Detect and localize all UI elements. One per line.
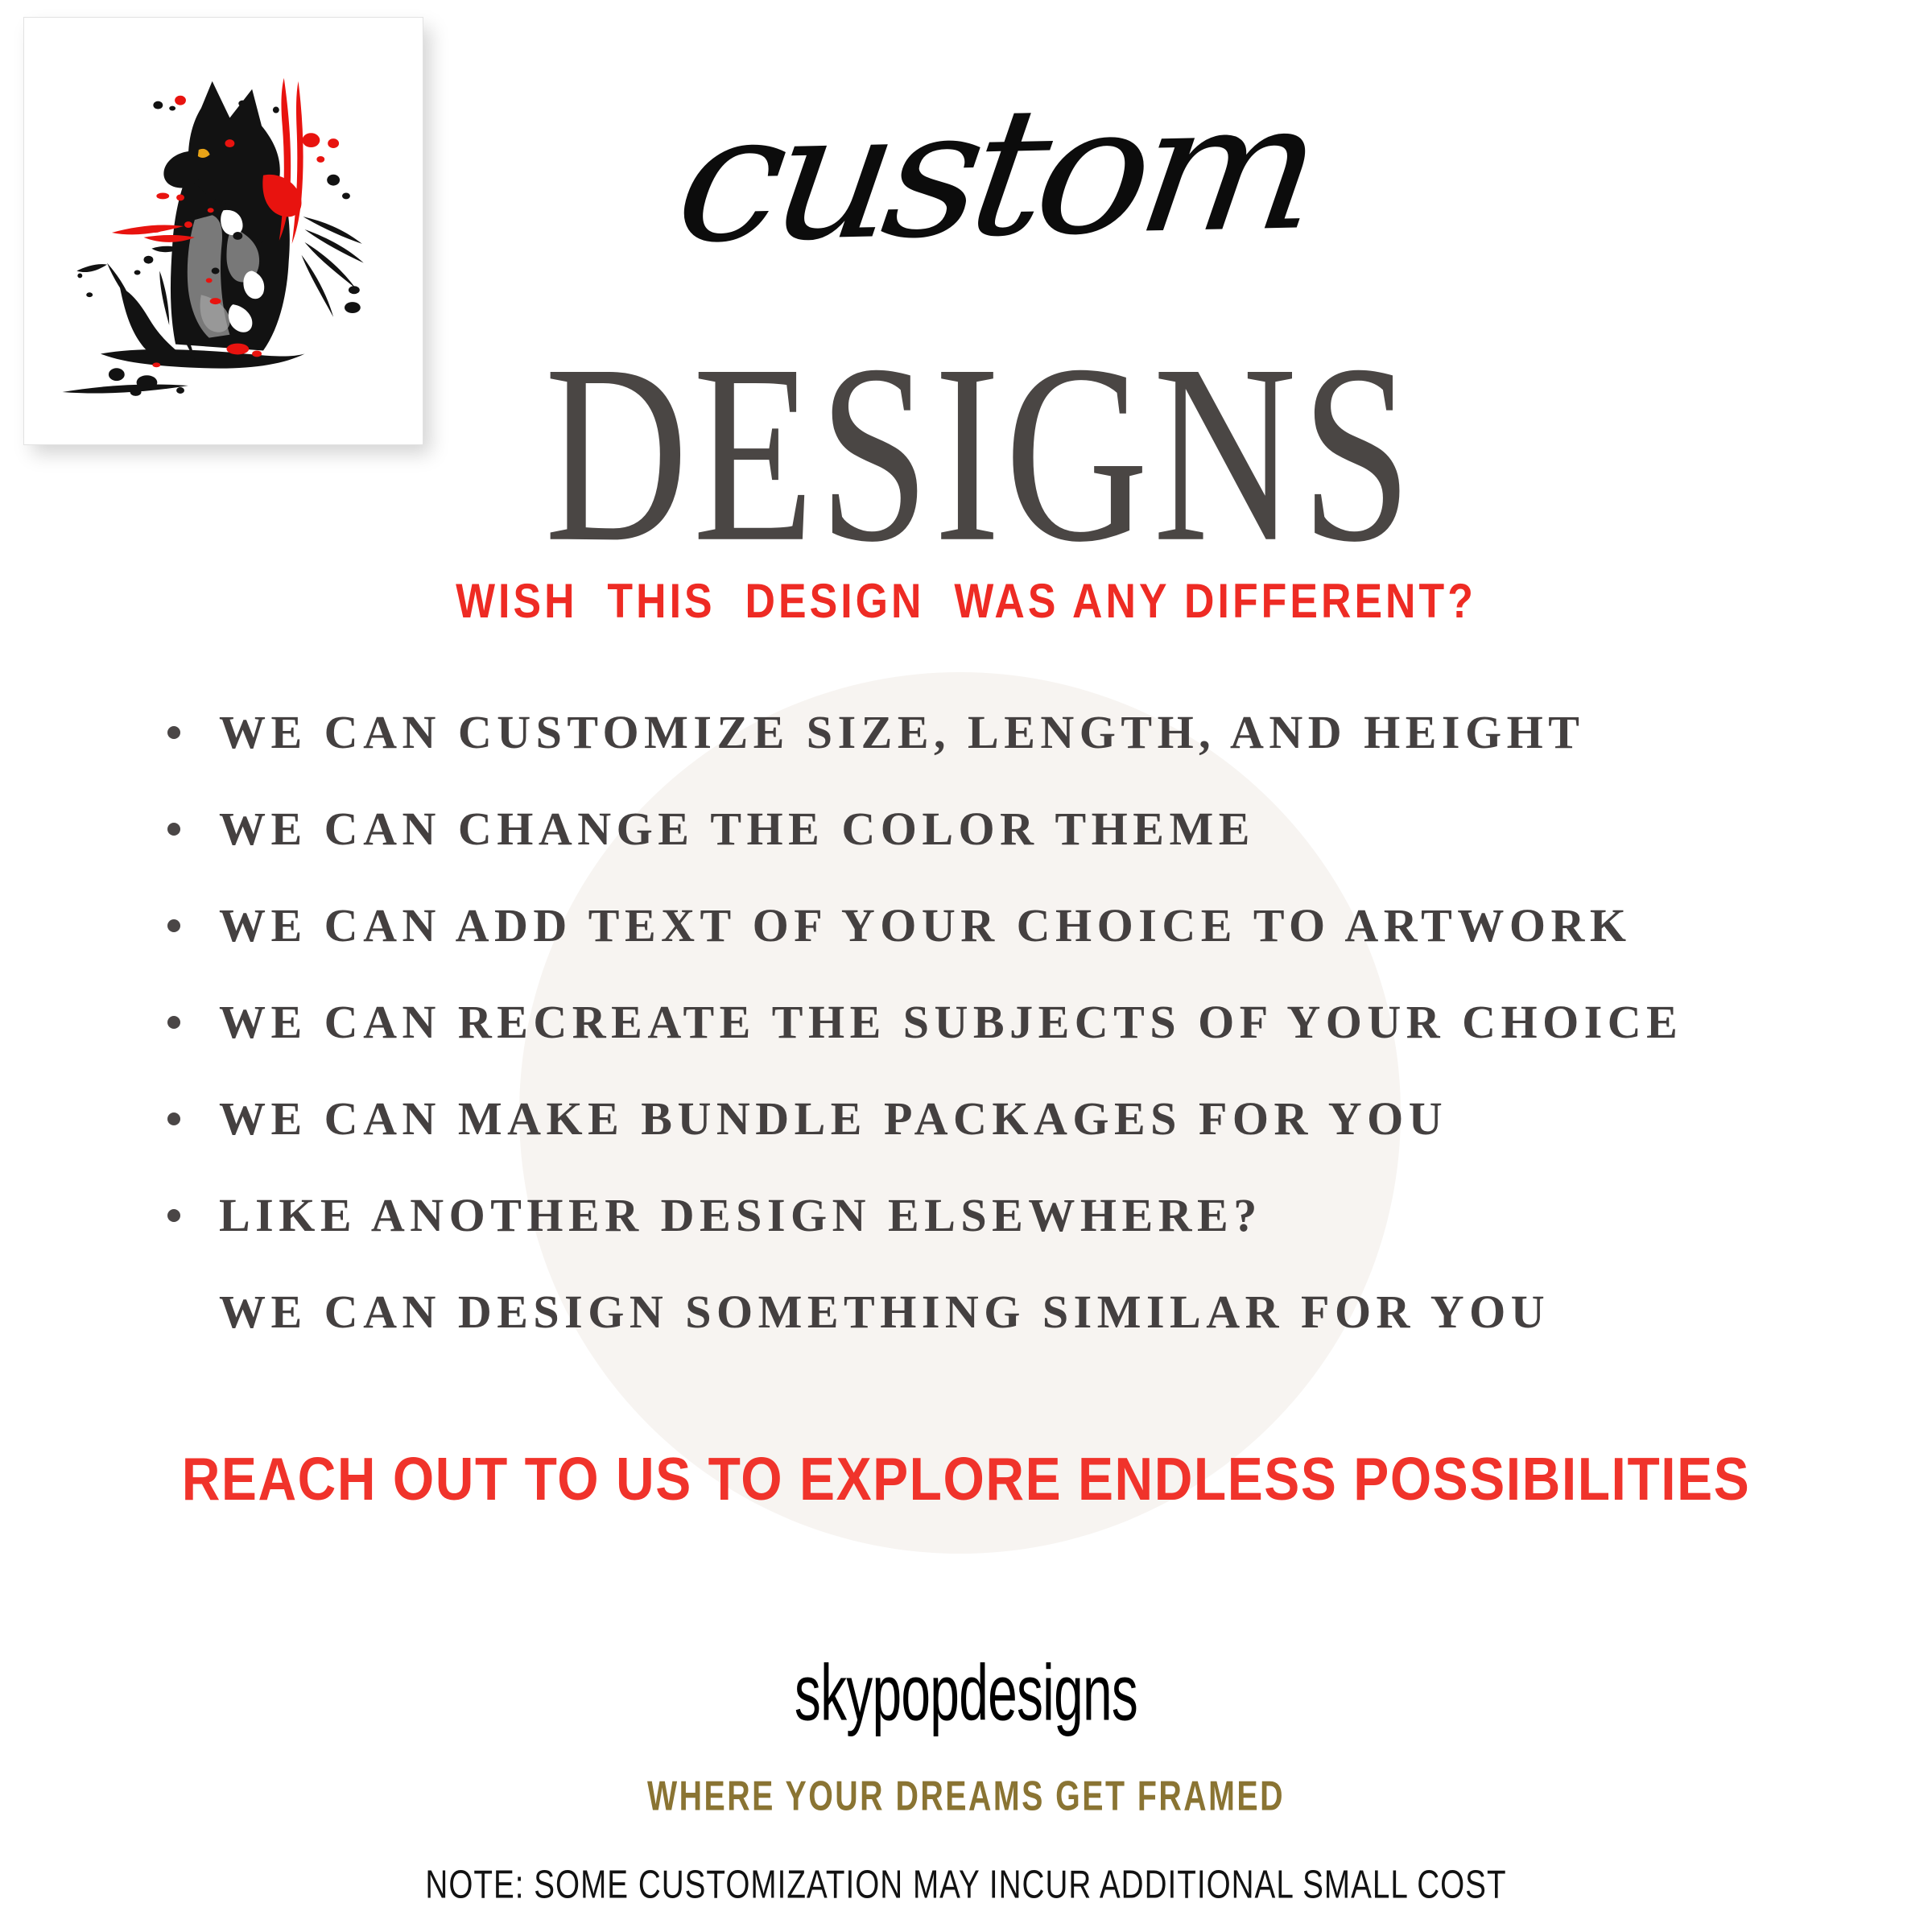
- bullet-dot-icon: [167, 823, 180, 836]
- list-item-continuation: WE CAN DESIGN SOMETHING SIMILAR FOR YOU: [161, 1288, 1835, 1336]
- bullet-dot-icon: [167, 919, 180, 932]
- list-item: WE CAN RECREATE THE SUBJECTS OF YOUR CHO…: [161, 998, 1835, 1046]
- list-item-label: WE CAN RECREATE THE SUBJECTS OF YOUR CHO…: [219, 996, 1682, 1048]
- list-item-label: WE CAN CUSTOMIZE SIZE, LENGTH, AND HEIGH…: [219, 706, 1584, 758]
- list-item: WE CAN MAKE BUNDLE PACKAGES FOR YOU: [161, 1095, 1835, 1143]
- list-item-label: WE CAN MAKE BUNDLE PACKAGES FOR YOU: [219, 1092, 1447, 1145]
- cat-ink-splatter-artwork: [24, 18, 423, 444]
- bullet-dot-icon: [167, 1209, 180, 1222]
- brand-logo-text: skypopdesigns: [290, 1647, 1642, 1738]
- cta-text: REACH OUT TO US TO EXPLORE ENDLESS POSSI…: [29, 1445, 1903, 1514]
- bullet-dot-icon: [167, 1016, 180, 1029]
- list-item: LIKE ANOTHER DESIGN ELSEWHERE?: [161, 1191, 1835, 1240]
- bullet-dot-icon: [167, 726, 180, 739]
- list-item: WE CAN CHANGE THE COLOR THEME: [161, 805, 1835, 853]
- list-item-label: WE CAN CHANGE THE COLOR THEME: [219, 803, 1255, 855]
- artwork-frame[interactable]: [24, 18, 423, 444]
- list-item: WE CAN ADD TEXT OF YOUR CHOICE TO ARTWOR…: [161, 902, 1835, 950]
- bullet-dot-icon: [167, 1113, 180, 1125]
- list-item: WE CAN CUSTOMIZE SIZE, LENGTH, AND HEIGH…: [161, 708, 1835, 757]
- brand-tagline: WHERE YOUR DREAMS GET FRAMED: [174, 1773, 1758, 1820]
- feature-list: WE CAN CUSTOMIZE SIZE, LENGTH, AND HEIGH…: [161, 708, 1835, 1385]
- subtitle-question: WISH THIS DESIGN WAS ANY DIFFERENT?: [39, 573, 1893, 629]
- list-item-label: LIKE ANOTHER DESIGN ELSEWHERE?: [219, 1189, 1262, 1241]
- script-title-text: custom: [634, 77, 1323, 268]
- page-title-text: DESIGNS: [515, 326, 1416, 581]
- footer-note: NOTE: SOME CUSTOMIZATION MAY INCUR ADDIT…: [155, 1861, 1777, 1907]
- list-item-label: WE CAN ADD TEXT OF YOUR CHOICE TO ARTWOR…: [219, 899, 1631, 952]
- list-item-label: WE CAN DESIGN SOMETHING SIMILAR FOR YOU: [219, 1286, 1550, 1338]
